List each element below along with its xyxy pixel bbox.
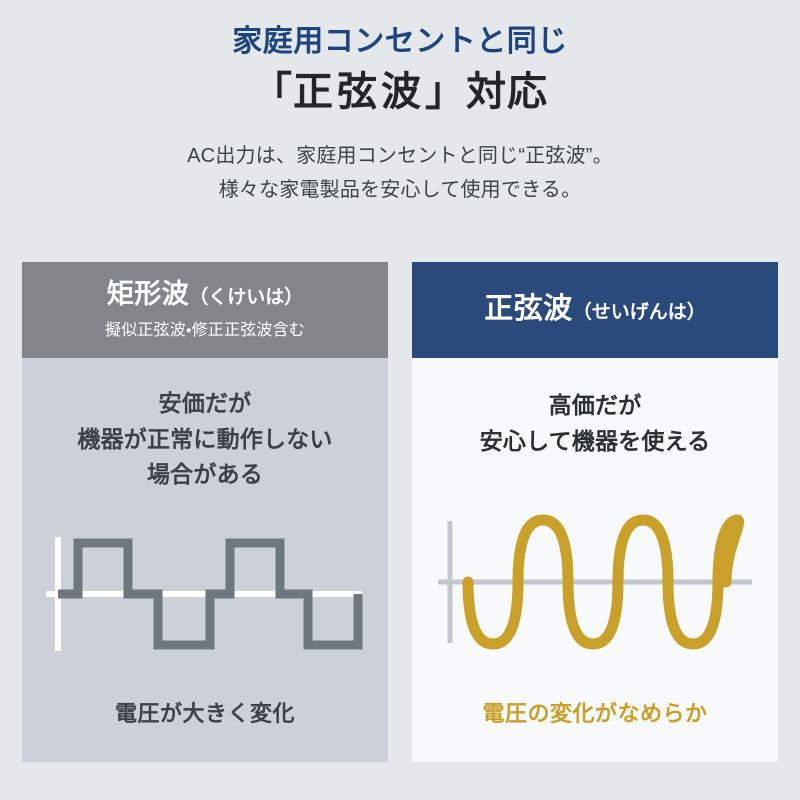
card-square-claim: 安価だが 機器が正常に動作しない 場合がある bbox=[77, 386, 332, 493]
card-sine-title: 正弦波（せいげんは） bbox=[484, 294, 706, 326]
card-sine-wave: 正弦波（せいげんは） 高価だが 安心して機器を使える bbox=[412, 262, 778, 762]
lede-paragraph: AC出力は、家庭用コンセントと同じ“正弦波”。 様々な家電製品を安心して使用でき… bbox=[0, 139, 800, 207]
sine-wave-chart bbox=[430, 503, 760, 653]
square-wave-figure bbox=[22, 493, 388, 696]
card-square-title-main: 矩形波 bbox=[107, 279, 190, 309]
card-sine-body: 高価だが 安心して機器を使える 電圧の変化がなめらか bbox=[412, 358, 778, 762]
card-square-body: 安価だが 機器が正常に動作しない 場合がある 電圧が大きく変化 bbox=[22, 358, 388, 762]
card-sine-claim-line-2: 安心して機器を使える bbox=[480, 424, 711, 460]
card-sine-title-main: 正弦波 bbox=[484, 293, 573, 325]
header-block: 家庭用コンセントと同じ 「正弦波」対応 AC出力は、家庭用コンセントと同じ“正弦… bbox=[0, 0, 800, 207]
headline-open-quote: 「 bbox=[252, 70, 293, 114]
comparison-cards: 矩形波（くけいは） 擬似正弦波・修正正弦波含む 安価だが 機器が正常に動作しない… bbox=[22, 262, 778, 762]
card-sine-title-ruby: （せいげんは） bbox=[573, 302, 706, 323]
headline-tail: 対応 bbox=[466, 70, 548, 114]
card-square-header: 矩形波（くけいは） 擬似正弦波・修正正弦波含む bbox=[22, 262, 388, 358]
headline-top: 家庭用コンセントと同じ bbox=[0, 22, 800, 61]
card-square-title-ruby: （くけいは） bbox=[189, 287, 303, 308]
headline-emphasis: 正弦波 bbox=[293, 70, 425, 114]
headline-main: 「正弦波」対応 bbox=[0, 65, 800, 119]
card-square-claim-line-2: 機器が正常に動作しない bbox=[77, 422, 332, 458]
card-square-claim-line-1: 安価だが bbox=[77, 386, 332, 422]
card-square-subtitle: 擬似正弦波・修正正弦波含む bbox=[105, 316, 305, 340]
card-sine-header: 正弦波（せいげんは） bbox=[412, 262, 778, 358]
square-wave-chart bbox=[40, 529, 370, 659]
card-sine-claim: 高価だが 安心して機器を使える bbox=[480, 388, 711, 459]
card-square-wave: 矩形波（くけいは） 擬似正弦波・修正正弦波含む 安価だが 機器が正常に動作しない… bbox=[22, 262, 388, 762]
card-square-title: 矩形波（くけいは） bbox=[107, 280, 304, 310]
headline-close-quote: 」 bbox=[425, 70, 466, 114]
card-square-caption: 電圧が大きく変化 bbox=[115, 696, 295, 728]
sine-wave-figure bbox=[412, 459, 778, 696]
infographic-page: 家庭用コンセントと同じ 「正弦波」対応 AC出力は、家庭用コンセントと同じ“正弦… bbox=[0, 0, 800, 800]
card-sine-claim-line-1: 高価だが bbox=[480, 388, 711, 424]
lede-line-1: AC出力は、家庭用コンセントと同じ“正弦波”。 bbox=[0, 139, 800, 173]
card-sine-caption: 電圧の変化がなめらか bbox=[482, 696, 707, 728]
card-square-claim-line-3: 場合がある bbox=[77, 457, 332, 493]
lede-line-2: 様々な家電製品を安心して使用できる。 bbox=[0, 173, 800, 207]
